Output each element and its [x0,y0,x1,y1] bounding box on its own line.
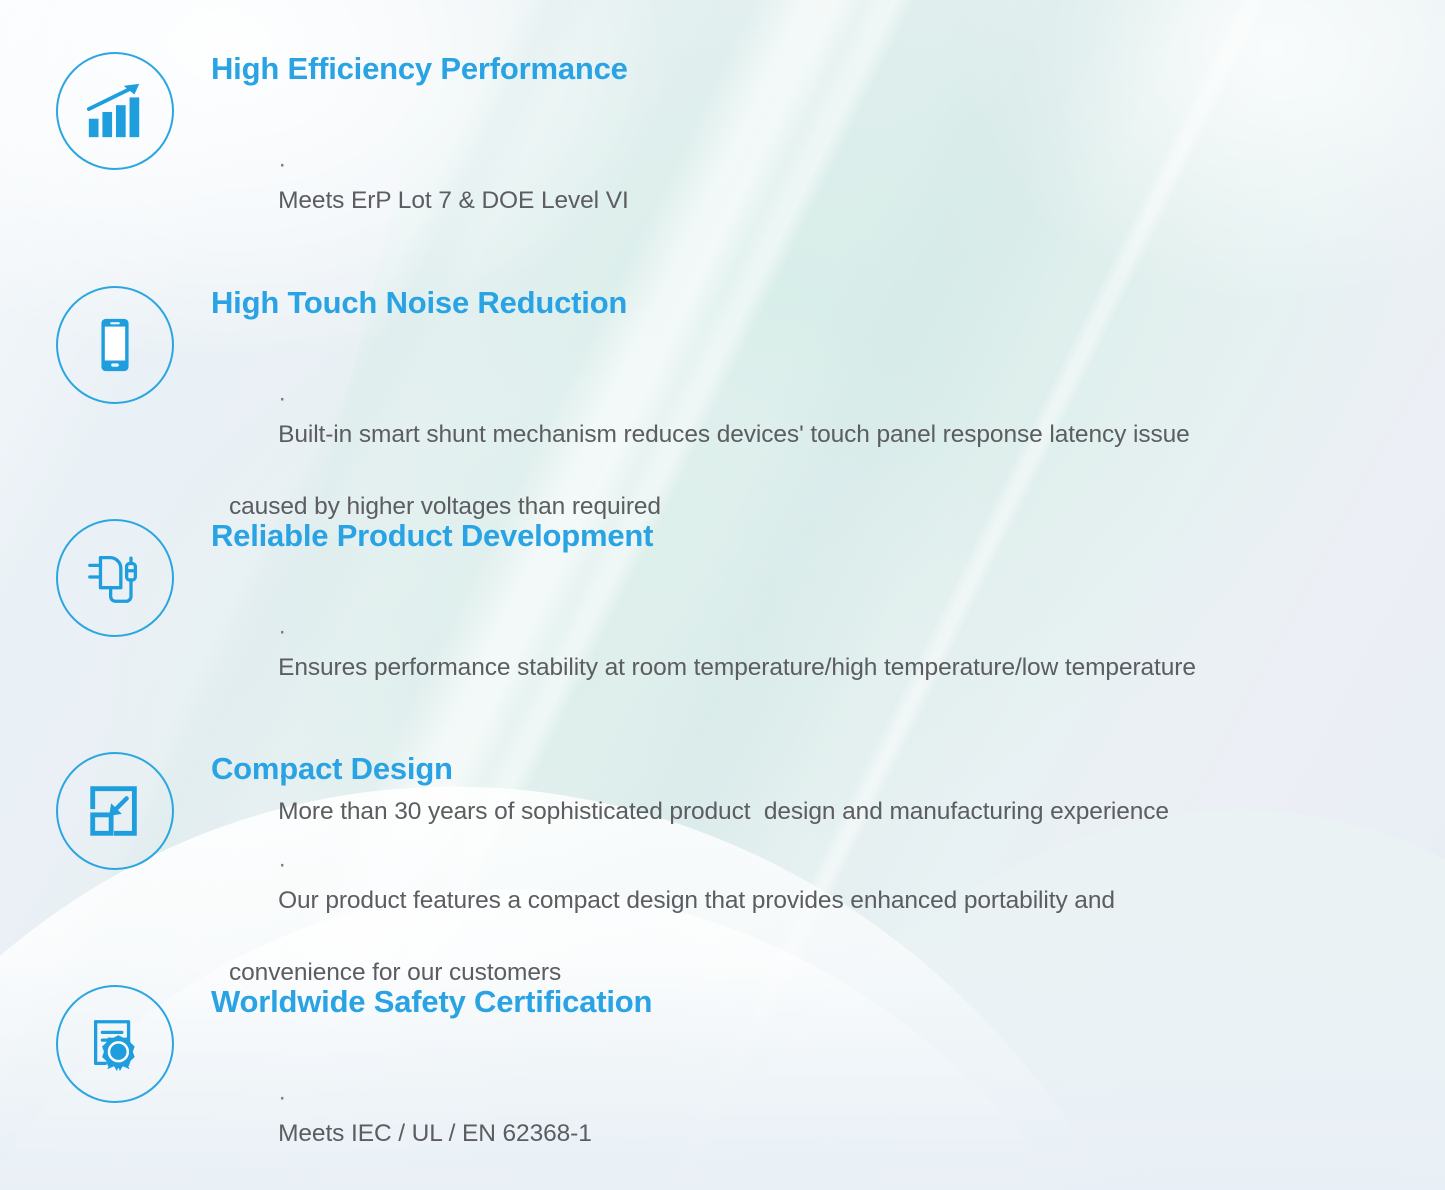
feature-icon-wrap [56,519,174,637]
feature-list: High Efficiency Performance · Meets ErP … [0,0,1445,1190]
feature-line: · Built-in smart shunt mechanism reduces… [211,345,1365,489]
feature-line: · Ensures performance stability at room … [211,578,1365,722]
feature-divider [211,795,1365,798]
bullet-glyph: · [278,1084,286,1111]
feature-icon-wrap [56,752,174,870]
feature-body: Compact Design · Our product features a … [211,752,1365,991]
smartphone-icon [84,314,146,376]
feature-title: Reliable Product Development [211,519,1365,552]
feature-body: High Touch Noise Reduction · Built-in sm… [211,286,1365,525]
feature-lines: · Meets ErP Lot 7 & DOE Level VI [211,111,1365,255]
feature-title: High Touch Noise Reduction [211,286,1365,319]
feature-line-text: Built-in smart shunt mechanism reduces d… [278,421,1190,448]
feature-lines: · Our product features a compact design … [211,811,1365,991]
certificate-award-icon [84,1013,146,1075]
feature-divider [211,562,1365,565]
feature-line-text: Meets ErP Lot 7 & DOE Level VI [278,187,629,214]
feature-icon-wrap [56,286,174,404]
feature-body: High Efficiency Performance · Meets ErP … [211,52,1365,255]
feature-lines: · Built-in smart shunt mechanism reduces… [211,345,1365,525]
feature-lines: · Meets IEC / UL / EN 62368-1 [211,1044,1365,1188]
feature-title: Worldwide Safety Certification [211,985,1365,1018]
feature-line-text: Meets IEC / UL / EN 62368-1 [278,1120,592,1147]
shrink-resize-icon [84,780,146,842]
feature-line-text: Our product features a compact design th… [278,887,1115,914]
bullet-glyph: · [278,151,286,178]
feature-title: High Efficiency Performance [211,52,1365,85]
bullet-glyph: · [278,385,286,412]
feature-divider [211,95,1365,98]
power-adapter-plug-icon [84,547,146,609]
bullet-glyph: · [278,618,286,645]
feature-line: · Meets IEC / UL / EN 62368-1 [211,1044,1365,1188]
feature-icon-wrap [56,985,174,1103]
feature-line: · Our product features a compact design … [211,811,1365,955]
feature-body: Worldwide Safety Certification · Meets I… [211,985,1365,1188]
feature-line-text: Ensures performance stability at room te… [278,654,1196,681]
feature-line: · Meets ErP Lot 7 & DOE Level VI [211,111,1365,255]
feature-title: Compact Design [211,752,1365,785]
feature-divider [211,1028,1365,1031]
feature-icon-wrap [56,52,174,170]
bar-chart-growth-icon [84,80,146,142]
bullet-glyph: · [278,851,286,878]
feature-divider [211,329,1365,332]
